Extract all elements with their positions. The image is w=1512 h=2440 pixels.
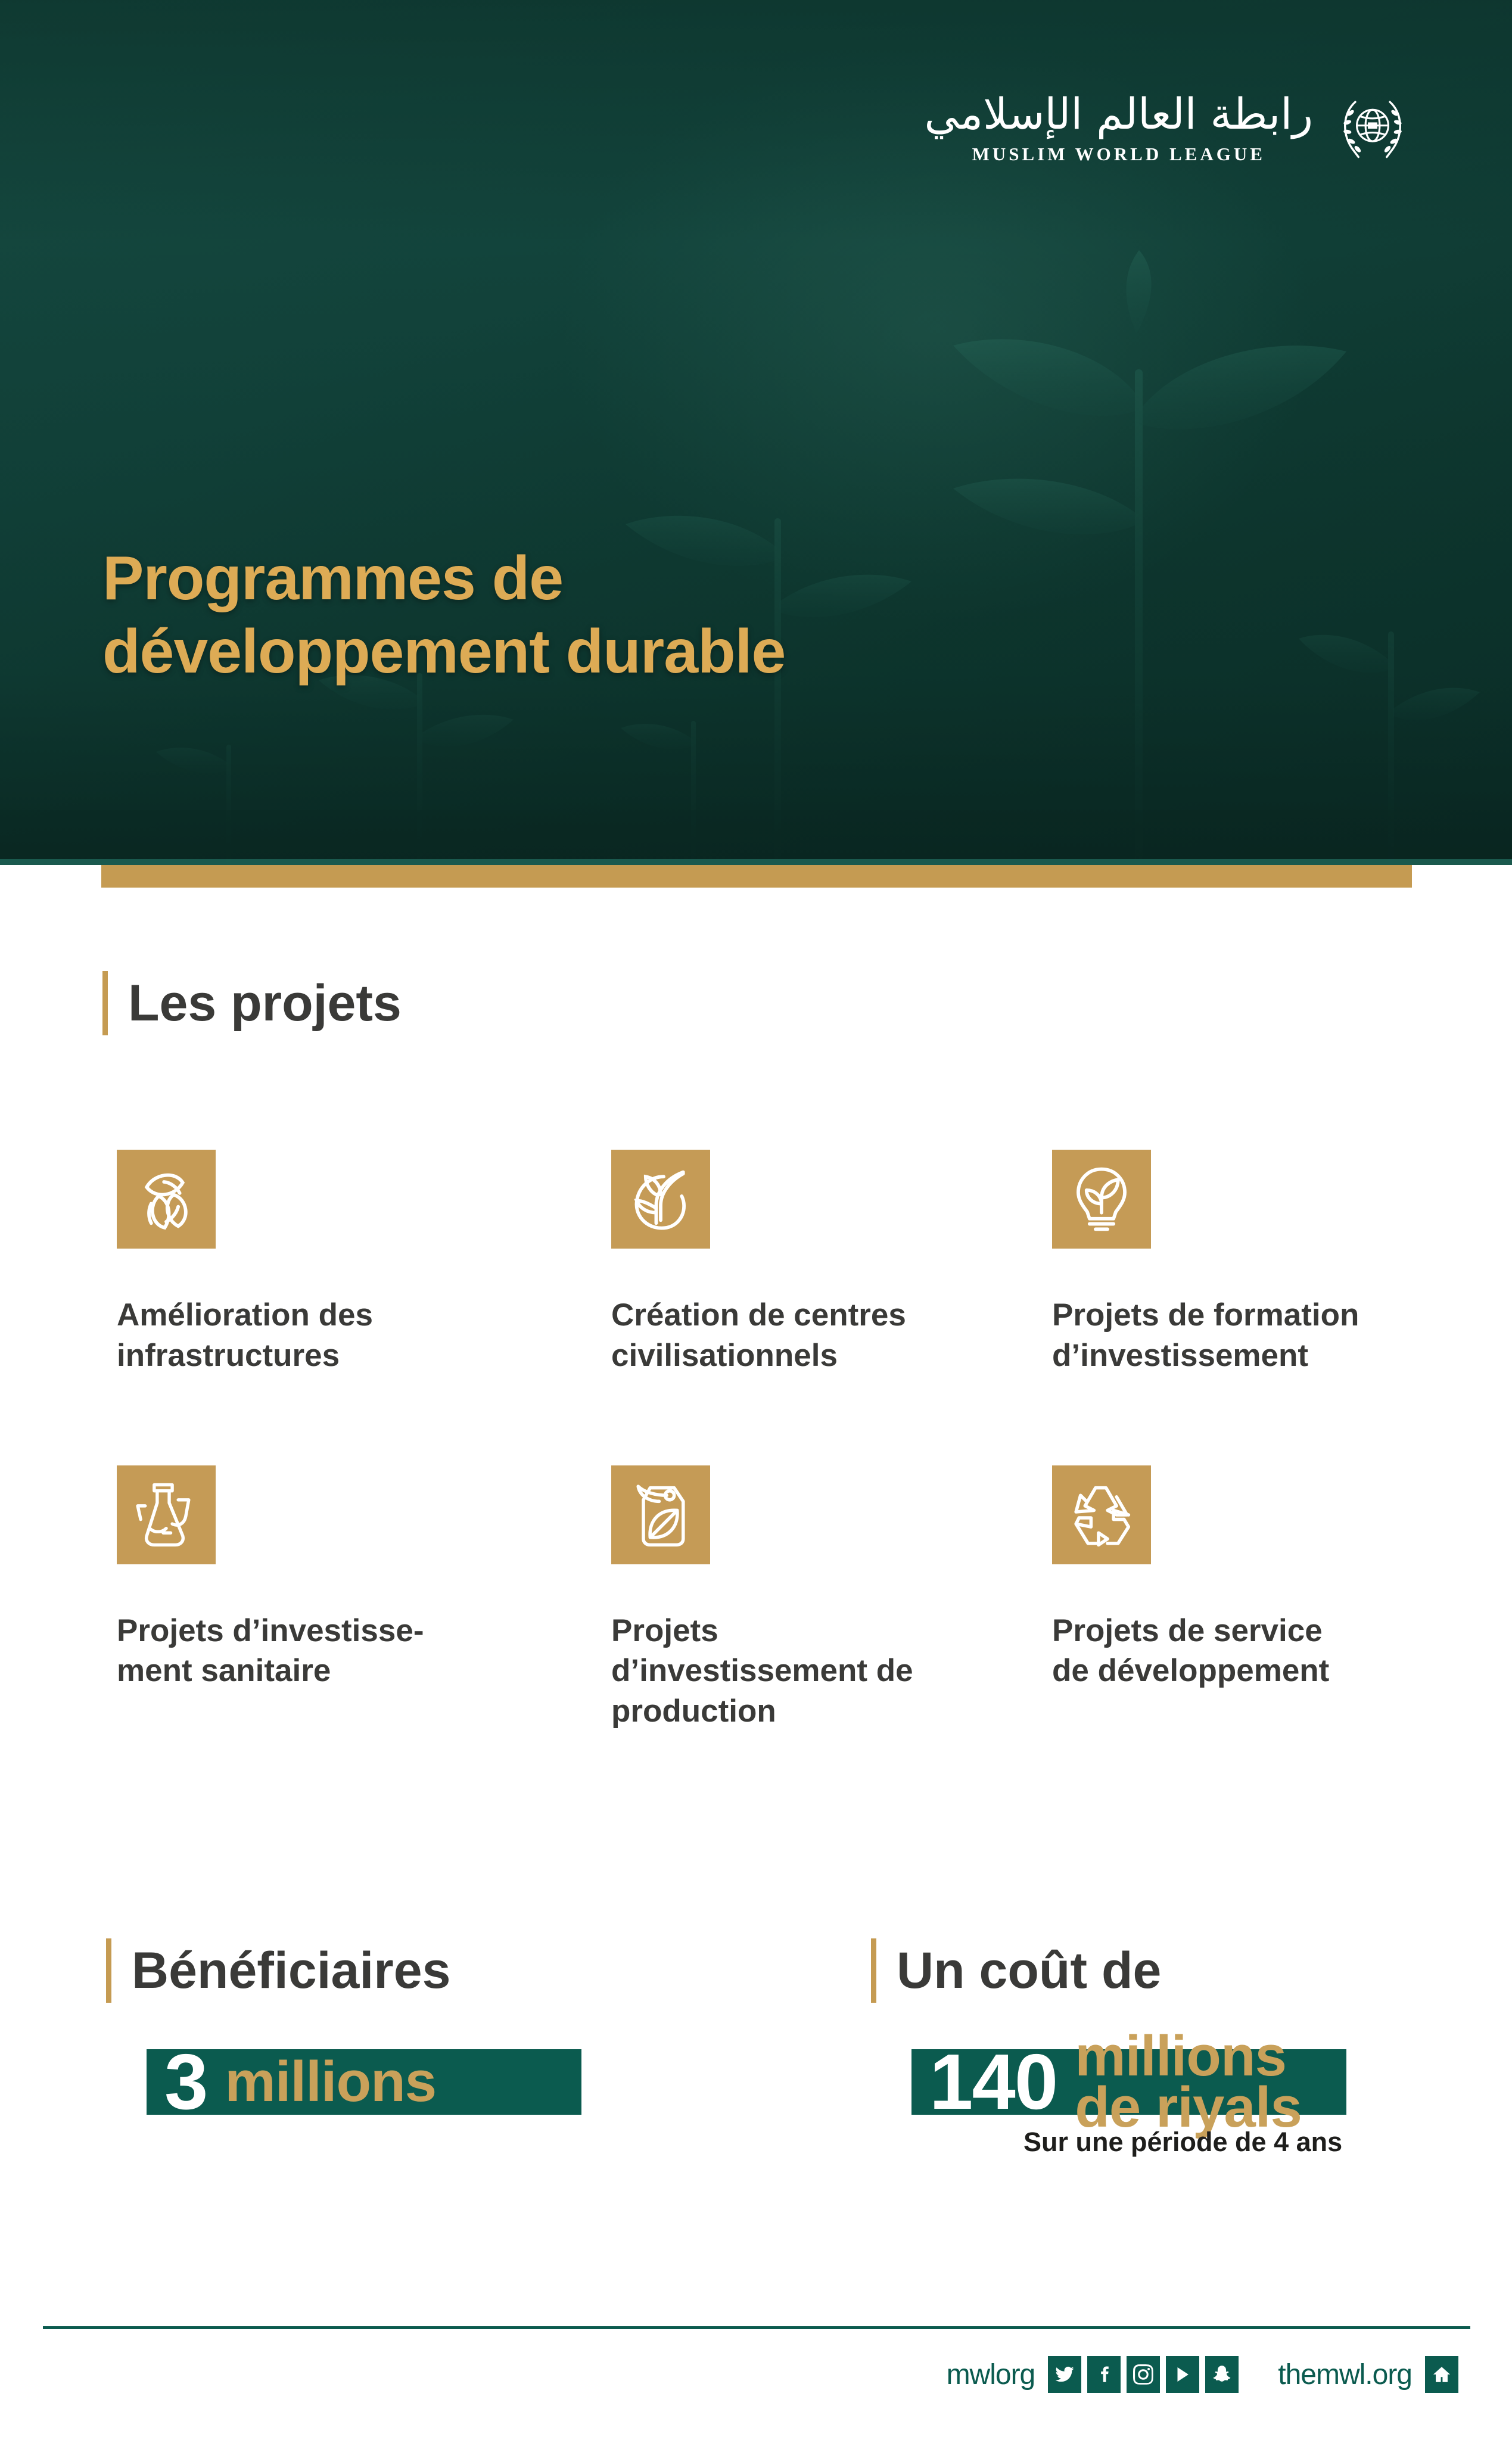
cost-unit: millions de riyals	[1075, 2031, 1329, 2134]
projects-section-heading: Les projets	[102, 971, 402, 1035]
lab-flasks-icon	[117, 1465, 216, 1564]
youtube-icon[interactable]	[1166, 2356, 1199, 2393]
lightbulb-leaf-icon	[1052, 1150, 1151, 1249]
globe-laurel-emblem-icon	[1333, 89, 1412, 168]
project-item: Projets de service de développement	[1052, 1465, 1415, 1732]
beneficiaries-section-heading: Bénéficiaires	[106, 1938, 450, 2003]
footer-bar: mwlorg themwl.org	[947, 2356, 1458, 2393]
snapchat-icon[interactable]	[1205, 2356, 1239, 2393]
three-leaves-circle-icon	[117, 1150, 216, 1249]
instagram-icon[interactable]	[1127, 2356, 1160, 2393]
social-icons	[1048, 2356, 1239, 2393]
facebook-icon[interactable]	[1087, 2356, 1121, 2393]
beneficiaries-heading-label: Bénéficiaires	[132, 1945, 450, 1996]
social-handle: mwlorg	[947, 2358, 1035, 2391]
cost-caption: Sur une période de 4 ans	[1023, 2127, 1342, 2158]
project-item: Amélioration des infrastructures	[117, 1150, 611, 1376]
recycle-arrows-icon	[1052, 1465, 1151, 1564]
gold-accent-rule	[106, 1938, 111, 2003]
home-icon[interactable]	[1425, 2356, 1458, 2393]
footer-divider	[43, 2326, 1470, 2329]
beneficiaries-unit: millions	[225, 2056, 436, 2108]
gold-accent-rule	[871, 1938, 876, 2003]
leaf-tag-icon	[611, 1465, 710, 1564]
website-url: themwl.org	[1278, 2358, 1412, 2391]
logo-english-text: MUSLIM WORLD LEAGUE	[972, 144, 1265, 165]
sprout-in-circle-icon	[611, 1150, 710, 1249]
cost-heading-label: Un coût de	[897, 1945, 1161, 1996]
project-item: Création de centres civilisationnels	[611, 1150, 1052, 1376]
twitter-icon[interactable]	[1048, 2356, 1081, 2393]
page-title: Programmes de développement durable	[102, 542, 785, 688]
cost-stat-badge: 140 millions de riyals	[911, 2049, 1346, 2115]
cost-number: 140	[929, 2052, 1057, 2113]
project-label: Projets d’investissement de production	[611, 1611, 993, 1732]
project-item: Projets d’investisse- ment sanitaire	[117, 1465, 611, 1732]
project-label: Projets de service de développement	[1052, 1611, 1415, 1692]
logo-arabic-text: رابطة العالم الإسلامي	[925, 92, 1313, 135]
hero-bottom-edge	[0, 859, 1512, 865]
cost-section-heading: Un coût de	[871, 1938, 1161, 2003]
project-item: Projets d’investissement de production	[611, 1465, 1052, 1732]
project-label: Projets d’investisse- ment sanitaire	[117, 1611, 498, 1692]
project-label: Projets de formation d’investissement	[1052, 1295, 1415, 1376]
mwl-logo: رابطة العالم الإسلامي MUSLIM WORLD LEAGU…	[925, 89, 1412, 168]
project-label: Amélioration des infrastructures	[117, 1295, 498, 1376]
hero-banner: رابطة العالم الإسلامي MUSLIM WORLD LEAGU…	[0, 0, 1512, 865]
beneficiaries-stat-badge: 3 millions	[147, 2049, 581, 2115]
gold-accent-rule	[102, 971, 108, 1035]
projects-grid: Amélioration des infrastructures Créatio…	[117, 1150, 1415, 1732]
gold-divider-bar	[101, 865, 1412, 888]
project-label: Création de centres civilisationnels	[611, 1295, 993, 1376]
beneficiaries-number: 3	[164, 2052, 207, 2113]
projects-heading-label: Les projets	[128, 978, 402, 1029]
project-item: Projets de formation d’investissement	[1052, 1150, 1415, 1376]
